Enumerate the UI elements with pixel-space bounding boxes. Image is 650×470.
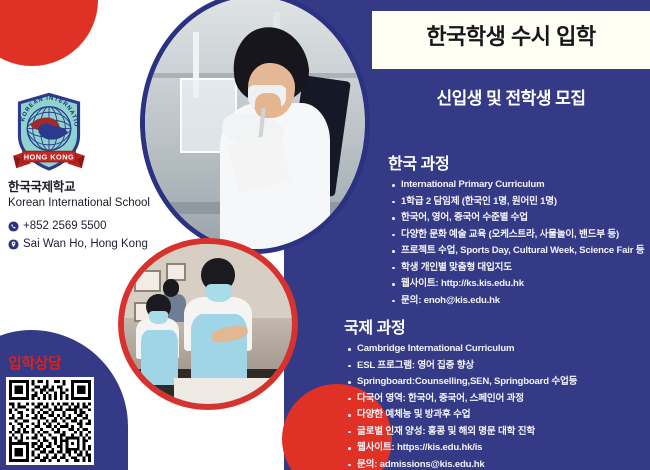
list-item: ESL 프로그램: 영어 집중 향상 <box>344 358 646 375</box>
school-name-block: 한국국제학교 Korean International School <box>8 180 150 211</box>
location-pin-icon <box>8 239 19 250</box>
list-item: 다양한 문화 예술 교육 (오케스트라, 사물놀이, 밴드부 등) <box>388 227 646 244</box>
section-title-korean: 한국 과정 <box>388 150 646 174</box>
science-lab-photo <box>140 0 370 254</box>
contact-list: +852 2569 5500 Sai Wan Ho, Hong Kong <box>8 218 148 254</box>
qr-code-icon[interactable] <box>6 377 94 465</box>
list-item: 다국어 영역: 한국어, 중국어, 스페인어 과정 <box>344 391 646 408</box>
list-item: 1학급 2 담임제 (한국인 1명, 원어민 1명) <box>388 194 646 211</box>
page-title: 한국학생 수시 입학 <box>372 19 650 51</box>
admission-poster: KOREAN INTERNATIONAL SCHOOL HONG KONG 한국… <box>0 0 650 470</box>
list-item: 한국어, 영어, 중국어 수준별 수업 <box>388 210 646 227</box>
list-item-website[interactable]: 웹사이트: http://ks.kis.edu.hk <box>388 276 646 293</box>
contact-phone-text: +852 2569 5500 <box>23 218 106 236</box>
list-item: International Primary Curriculum <box>388 177 646 194</box>
top-blue-strip <box>372 0 650 11</box>
svg-text:HONG KONG: HONG KONG <box>24 152 75 161</box>
school-name-english: Korean International School <box>8 196 150 211</box>
list-item: Springboard:Counselling,SEN, Springboard… <box>344 374 646 391</box>
section-korean-curriculum: 한국 과정 International Primary Curriculum 1… <box>388 150 646 309</box>
list-item-website[interactable]: 웹사이트: https://kis.edu.hk/is <box>344 440 646 457</box>
list-item-email[interactable]: 문의: enoh@kis.edu.hk <box>388 293 646 310</box>
section-international-curriculum: 국제 과정 Cambridge International Curriculum… <box>344 314 646 470</box>
list-item: 글로벌 인재 양성: 홍콩 및 해외 명문 대학 진학 <box>344 424 646 441</box>
contact-row-location: Sai Wan Ho, Hong Kong <box>8 236 148 254</box>
page-subtitle: 신입생 및 전학생 모집 <box>372 84 650 109</box>
red-circle-decoration-top <box>0 0 98 66</box>
section-list-international: Cambridge International Curriculum ESL 프… <box>344 341 646 470</box>
qr-label: 입학상담 <box>8 352 61 373</box>
list-item-email[interactable]: 문의: admissions@kis.edu.hk <box>344 457 646 470</box>
section-title-international: 국제 과정 <box>344 314 646 338</box>
list-item: 학생 개인별 맞춤형 대입지도 <box>388 260 646 277</box>
kis-shield-logo: KOREAN INTERNATIONAL SCHOOL HONG KONG <box>10 92 88 176</box>
list-item: 다양한 예체능 및 방과후 수업 <box>344 407 646 424</box>
art-class-photo <box>118 238 298 410</box>
contact-location-text: Sai Wan Ho, Hong Kong <box>23 236 148 254</box>
school-name-korean: 한국국제학교 <box>8 180 150 196</box>
contact-row-phone: +852 2569 5500 <box>8 218 148 236</box>
section-list-korean: International Primary Curriculum 1학급 2 담… <box>388 177 646 309</box>
phone-icon <box>8 221 19 232</box>
list-item: 프로젝트 수업, Sports Day, Cultural Week, Scie… <box>388 243 646 260</box>
list-item: Cambridge International Curriculum <box>344 341 646 358</box>
